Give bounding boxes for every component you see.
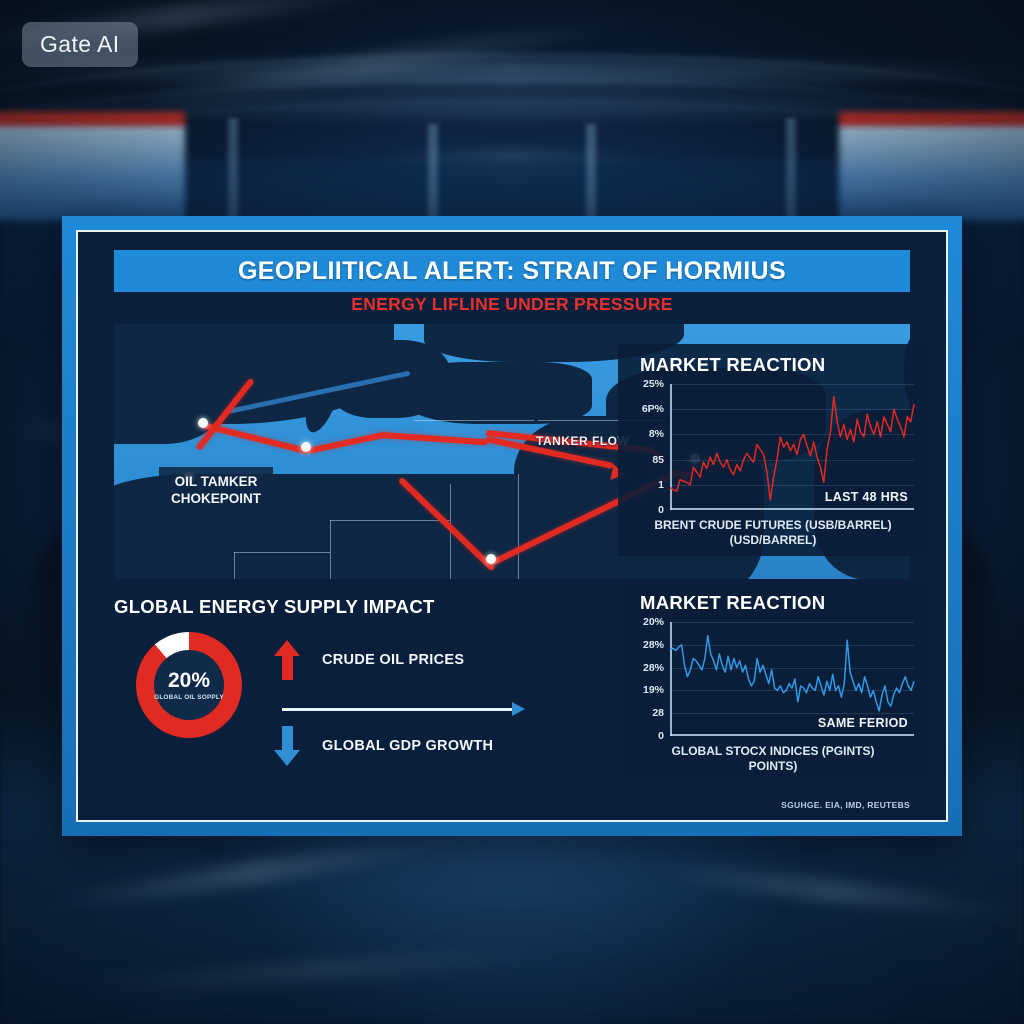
y-tick-label: 85 xyxy=(652,454,664,466)
y-tick-label: 0 xyxy=(658,730,664,742)
y-tick-label: 19% xyxy=(643,684,664,696)
supply-impact-panel: GLOBAL ENERGY SUPPLY IMPACT 20% GLOBAL O… xyxy=(114,590,604,790)
donut-value: 20% xyxy=(168,670,210,691)
chart-axis-caption: BRENT CRUDE FUTURES (USB/BARREL) (USD/BA… xyxy=(618,518,928,548)
y-tick-label: 25% xyxy=(643,378,664,390)
chart-panel-brent-crude: MARKET REACTION 25%6P%8%8510 LAST 48 HRS… xyxy=(618,344,928,556)
axis-caption-line2: (USD/BARREL) xyxy=(618,533,928,548)
supply-impact-title: GLOBAL ENERGY SUPPLY IMPACT xyxy=(114,596,604,618)
broadcast-graphic-card: GEOPLIITICAL ALERT: STRAIT OF HORMIUS EN… xyxy=(62,216,962,836)
border-line xyxy=(330,520,450,521)
tanker-flow-label: TANKER FLOW xyxy=(536,434,629,448)
route-node xyxy=(301,442,311,452)
arrow-up-icon xyxy=(274,640,300,680)
donut-chart: 20% GLOBAL OIL SOPPLY xyxy=(136,632,242,738)
y-tick-label: 0 xyxy=(658,504,664,516)
impact-row-gdp-growth: GLOBAL GDP GROWTH xyxy=(274,726,493,766)
chart-panel-global-stocks: MARKET REACTION 20%28%28%19%280 SAME FER… xyxy=(618,582,928,782)
route-node xyxy=(486,554,496,564)
border-line xyxy=(234,552,235,579)
border-line xyxy=(518,474,519,579)
chokepoint-label-line2: CHOKEPOINT xyxy=(171,491,261,508)
chart-plot-area: 20%28%28%19%280 SAME FERIOD xyxy=(670,622,914,736)
landmass-turkey xyxy=(402,362,592,424)
chart-axis-caption: GLOBAL STOCX INDICES (PGINTS) POINTS) xyxy=(618,744,928,774)
border-line xyxy=(330,520,331,579)
impact-label-gdp-growth: GLOBAL GDP GROWTH xyxy=(322,738,493,754)
arrow-down-icon xyxy=(274,726,300,766)
page-subtitle: ENERGY LIFLINE UNDER PRESSURE xyxy=(78,294,946,315)
title-bar: GEOPLIITICAL ALERT: STRAIT OF HORMIUS xyxy=(114,250,910,292)
axis-caption-line2: POINTS) xyxy=(618,759,928,774)
chart-annotation: SAME FERIOD xyxy=(818,716,908,730)
y-tick-label: 6P% xyxy=(642,403,664,415)
border-line xyxy=(414,420,534,421)
chart-annotation: LAST 48 HRS xyxy=(825,490,908,504)
chokepoint-label: OIL TAMKER CHOKEPOINT xyxy=(159,467,273,515)
y-tick-label: 8% xyxy=(649,428,664,440)
donut-center: 20% GLOBAL OIL SOPPLY xyxy=(154,650,224,720)
watermark-label: Gate AI xyxy=(40,31,120,57)
border-line xyxy=(234,552,330,553)
tanker-route xyxy=(382,432,488,445)
route-node xyxy=(198,418,208,428)
chokepoint-label-line1: OIL TAMKER xyxy=(171,474,261,491)
watermark-badge: Gate AI xyxy=(22,22,138,67)
chart-plot-area: 25%6P%8%8510 LAST 48 HRS xyxy=(670,384,914,510)
divider-arrow-icon xyxy=(512,702,525,716)
donut-caption: GLOBAL OIL SOPPLY xyxy=(154,694,224,701)
y-tick-label: 1 xyxy=(658,479,664,491)
axis-caption-line1: BRENT CRUDE FUTURES (USB/BARREL) xyxy=(618,518,928,533)
axis-caption-line1: GLOBAL STOCX INDICES (PGINTS) xyxy=(618,744,928,759)
y-tick-label: 28% xyxy=(643,662,664,674)
chart-title: MARKET REACTION xyxy=(640,354,825,376)
y-tick-label: 28% xyxy=(643,639,664,651)
page-title: GEOPLIITICAL ALERT: STRAIT OF HORMIUS xyxy=(238,257,786,286)
divider-line xyxy=(282,708,512,711)
source-credit: SGUHGE. EIA, IMD, REUTEBS xyxy=(781,800,910,810)
y-tick-label: 20% xyxy=(643,616,664,628)
chart-title: MARKET REACTION xyxy=(640,592,825,614)
impact-label-crude-oil: CRUDE OIL PRICES xyxy=(322,652,464,668)
tanker-route xyxy=(307,431,386,454)
card-inner: GEOPLIITICAL ALERT: STRAIT OF HORMIUS EN… xyxy=(76,230,948,822)
tanker-route xyxy=(201,422,309,454)
y-tick-label: 28 xyxy=(652,707,664,719)
impact-row-crude-oil: CRUDE OIL PRICES xyxy=(274,640,464,680)
